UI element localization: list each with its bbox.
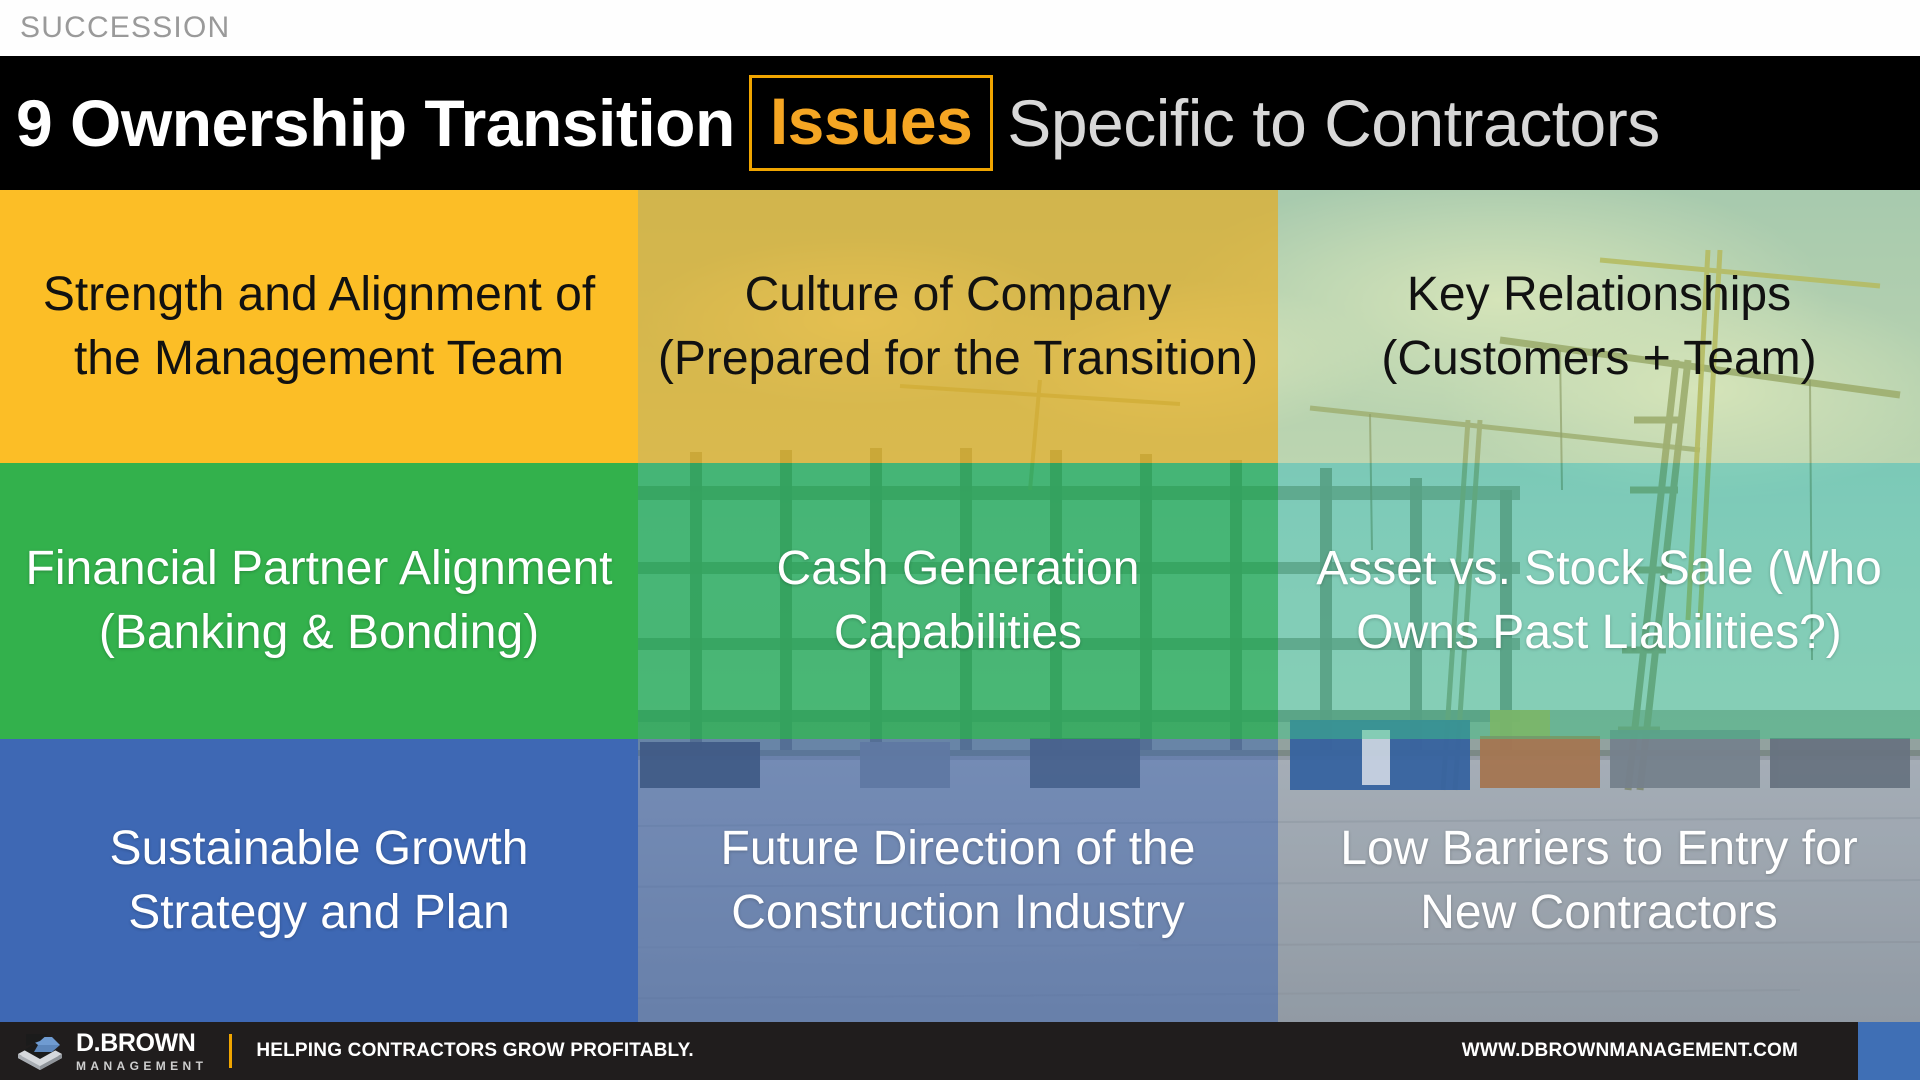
issue-cell-5[interactable]: Cash Generation Capabilities bbox=[638, 463, 1278, 739]
issue-label: Financial Partner Alignment (Banking & B… bbox=[16, 537, 622, 665]
title-bar: 9 Ownership Transition Issues Specific t… bbox=[0, 56, 1920, 190]
issue-label: Cash Generation Capabilities bbox=[654, 537, 1262, 665]
footer-divider bbox=[229, 1034, 232, 1068]
eyebrow-bar: SUCCESSION bbox=[0, 0, 1920, 56]
issue-cell-2[interactable]: Culture of Company (Prepared for the Tra… bbox=[638, 190, 1278, 463]
title-highlight-box: Issues bbox=[749, 75, 993, 171]
issue-cell-3[interactable]: Key Relationships (Customers + Team) bbox=[1278, 190, 1920, 463]
issue-cell-7[interactable]: Sustainable Growth Strategy and Plan bbox=[0, 739, 638, 1022]
issue-cell-6[interactable]: Asset vs. Stock Sale (Who Owns Past Liab… bbox=[1278, 463, 1920, 739]
title-before: 9 Ownership Transition bbox=[16, 90, 735, 156]
logo-subtitle: MANAGEMENT bbox=[76, 1060, 207, 1072]
issue-cell-8[interactable]: Future Direction of the Construction Ind… bbox=[638, 739, 1278, 1022]
issue-label: Sustainable Growth Strategy and Plan bbox=[16, 817, 622, 945]
issue-cell-9[interactable]: Low Barriers to Entry for New Contractor… bbox=[1278, 739, 1920, 1022]
issue-cell-4[interactable]: Financial Partner Alignment (Banking & B… bbox=[0, 463, 638, 739]
issue-label: Future Direction of the Construction Ind… bbox=[654, 817, 1262, 945]
footer-tagline: HELPING CONTRACTORS GROW PROFITABLY. bbox=[256, 1040, 694, 1062]
title-after: Specific to Contractors bbox=[1007, 90, 1659, 156]
issue-label: Strength and Alignment of the Management… bbox=[16, 263, 622, 391]
slide: SUCCESSION 9 Ownership Transition Issues… bbox=[0, 0, 1920, 1080]
issue-label: Low Barriers to Entry for New Contractor… bbox=[1294, 817, 1904, 945]
category-label: SUCCESSION bbox=[20, 13, 230, 43]
slide-title: 9 Ownership Transition Issues Specific t… bbox=[16, 75, 1660, 171]
footer-url[interactable]: WWW.DBROWNMANAGEMENT.COM bbox=[1462, 1040, 1798, 1062]
issue-cell-1[interactable]: Strength and Alignment of the Management… bbox=[0, 190, 638, 463]
footer-bar: D.BROWN MANAGEMENT HELPING CONTRACTORS G… bbox=[0, 1022, 1858, 1080]
dbrown-logo-icon bbox=[14, 1028, 66, 1074]
issue-label: Culture of Company (Prepared for the Tra… bbox=[654, 263, 1262, 391]
issue-label: Asset vs. Stock Sale (Who Owns Past Liab… bbox=[1294, 537, 1904, 665]
title-highlight: Issues bbox=[770, 88, 972, 154]
logo-wordmark: D.BROWN MANAGEMENT bbox=[76, 1031, 207, 1072]
issues-grid: Strength and Alignment of the Management… bbox=[0, 190, 1920, 1022]
issue-label: Key Relationships (Customers + Team) bbox=[1294, 263, 1904, 391]
logo-name: D.BROWN bbox=[76, 1031, 207, 1056]
